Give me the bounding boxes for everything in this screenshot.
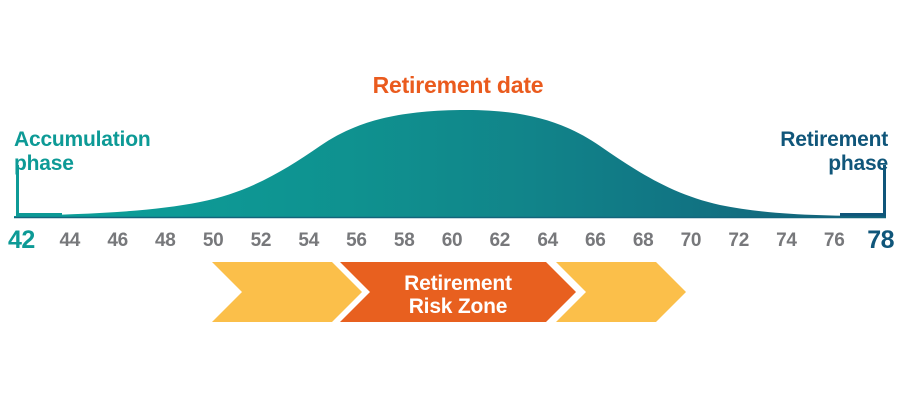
age-tick-54: 54 bbox=[298, 230, 319, 251]
age-tick-48: 48 bbox=[155, 230, 176, 251]
age-tick-72: 72 bbox=[728, 230, 749, 251]
distribution-curve-area bbox=[14, 110, 886, 218]
age-tick-62: 62 bbox=[490, 230, 511, 251]
age-tick-64: 64 bbox=[537, 230, 558, 251]
age-tick-42: 42 bbox=[8, 226, 35, 254]
age-tick-52: 52 bbox=[251, 230, 272, 251]
age-tick-74: 74 bbox=[776, 230, 797, 251]
age-tick-50: 50 bbox=[203, 230, 224, 251]
age-tick-76: 76 bbox=[824, 230, 845, 251]
retirement-risk-zone-band: Retirement Risk Zone bbox=[212, 262, 686, 322]
risk-zone-left-chevron bbox=[212, 262, 362, 322]
age-tick-70: 70 bbox=[681, 230, 702, 251]
accumulation-phase-label-line2: phase bbox=[14, 152, 74, 175]
retirement-risk-zone-figure: Retirement date Accumulation phase Retir… bbox=[0, 0, 900, 400]
chart-title: Retirement date bbox=[373, 72, 544, 98]
age-tick-60: 60 bbox=[442, 230, 463, 251]
retirement-risk-zone-chart: Retirement date Accumulation phase Retir… bbox=[0, 0, 900, 400]
age-axis-ticks: 42444648505254565860626466687072747678 bbox=[8, 226, 895, 254]
accumulation-phase-label-line1: Accumulation bbox=[14, 128, 150, 151]
risk-zone-label-line1: Retirement bbox=[404, 272, 512, 295]
retirement-phase-label-line1: Retirement bbox=[780, 128, 888, 151]
age-tick-66: 66 bbox=[585, 230, 606, 251]
age-tick-44: 44 bbox=[60, 230, 81, 251]
age-tick-78: 78 bbox=[867, 226, 894, 254]
age-tick-46: 46 bbox=[107, 230, 128, 251]
age-tick-58: 58 bbox=[394, 230, 415, 251]
age-tick-56: 56 bbox=[346, 230, 367, 251]
distribution-curve-group bbox=[14, 110, 886, 218]
risk-zone-label-line2: Risk Zone bbox=[409, 295, 508, 318]
retirement-phase-label-line2: phase bbox=[828, 152, 888, 175]
age-tick-68: 68 bbox=[633, 230, 654, 251]
